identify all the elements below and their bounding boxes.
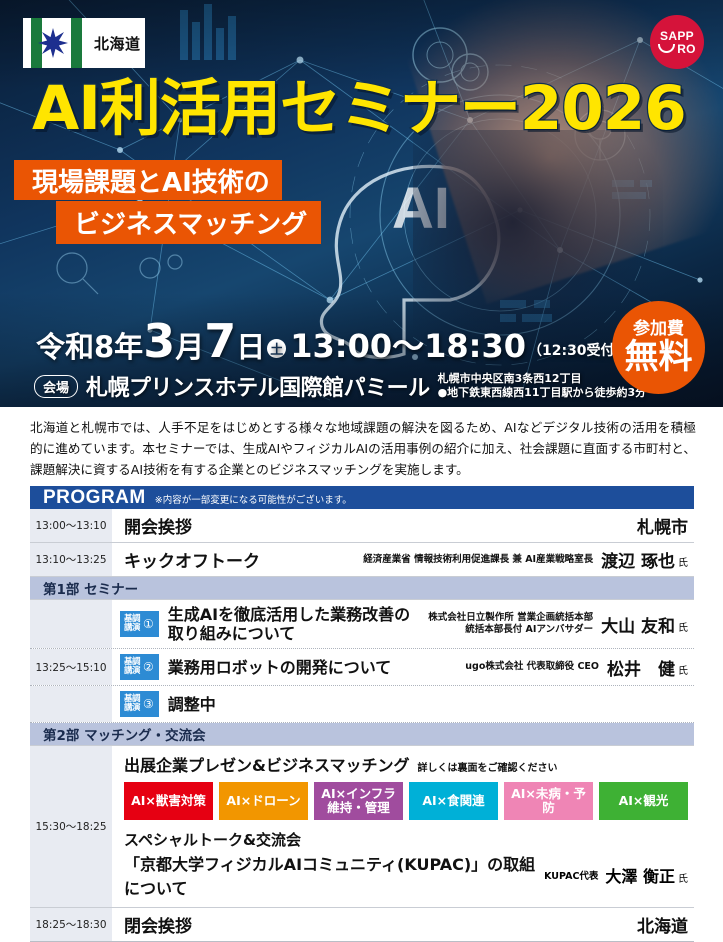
poster-root: AI — [0, 0, 723, 866]
matching-note: 詳しくは裏面をご確認ください — [417, 759, 557, 774]
hokkaido-logo: 北海道 — [23, 18, 145, 68]
venue-address-line1: 札幌市中央区南3条西12丁目 — [438, 372, 582, 385]
matching-title: 出展企業プレゼン&ビジネスマッチング — [124, 752, 409, 776]
event-date: 令和8年 3 月 7 日 土 13:00〜18:30 （12:30受付開始） — [36, 318, 657, 367]
category-tag-label: AI×ドローン — [226, 794, 300, 808]
program-header-title: PROGRAM — [43, 488, 146, 507]
program-table: PROGRAM ※内容が一部変更になる可能性がございます。 13:00～13:1… — [30, 486, 694, 942]
keynote-badge-number: ③ — [143, 697, 154, 711]
keynote-badge: 基調 講演 ③ — [120, 691, 159, 717]
keynote-badge-line2: 講演 — [124, 666, 140, 676]
date-day-unit: 日 — [236, 324, 265, 366]
keynote-badge: 基調 講演 ② — [120, 654, 159, 680]
row-body: 出展企業プレゼン&ビジネスマッチング 詳しくは裏面をご確認ください AI×獣害対… — [112, 746, 694, 907]
program-header-note: ※内容が一部変更になる可能性がございます。 — [155, 492, 352, 506]
special-talk-line1: スペシャルトーク&交流会 — [124, 829, 688, 850]
speaker-name: 渡辺 琢也 — [601, 547, 675, 572]
hokkaido-star-icon — [37, 27, 69, 59]
subtitle-line-1: 現場課題とAI技術の — [14, 160, 282, 200]
category-tag-label: AI×インフラ 維持・管理 — [321, 787, 395, 815]
subtitle-line-2: ビジネスマッチング — [56, 201, 321, 244]
category-tag[interactable]: AI×ドローン — [219, 782, 308, 820]
session-title: 業務用ロボットの開発について — [168, 658, 392, 677]
row-body: 基調 講演 ② 業務用ロボットの開発について ugo株式会社 代表取締役 CEO… — [112, 649, 694, 685]
speaker-name: 大澤 衡正 — [605, 863, 675, 887]
matching-heading: 出展企業プレゼン&ビジネスマッチング 詳しくは裏面をご確認ください — [124, 752, 688, 776]
row-body: 基調 講演 ① 生成AIを徹底活用した業務改善の 取り組みについて 株式会社日立… — [112, 600, 694, 648]
smile-icon — [658, 44, 675, 53]
page-title: AI利活用セミナー2026 — [32, 78, 686, 139]
hokkaido-flag-icon — [23, 18, 93, 68]
keynote-badge-number: ① — [143, 617, 154, 631]
row-body: 基調 講演 ③ 調整中 — [112, 686, 694, 722]
fee-badge: 参加費 無料 — [612, 301, 705, 394]
keynote-badge-text: 基調 講演 — [124, 658, 140, 676]
date-month-number: 3 — [143, 318, 175, 364]
table-row: 13:00～13:10 開会挨拶 札幌市 — [30, 509, 694, 543]
sapporo-logo: SAPP RO — [650, 15, 704, 69]
venue-address-line2: ●地下鉄東西線西11丁目駅から徒歩約3分 — [438, 386, 647, 399]
keynote-badge: 基調 講演 ① — [120, 611, 159, 637]
row-title: キックオフトーク — [124, 547, 260, 572]
sapporo-logo-line1: SAPP — [660, 30, 694, 42]
category-tag-label: AI×未病・予防 — [506, 787, 591, 815]
date-era-year: 令和8年 — [36, 324, 143, 366]
fee-badge-value: 無料 — [625, 340, 693, 374]
session-title: 調整中 — [168, 695, 216, 714]
special-talk-line2: 「京都大学フィジカルAIコミュニティ(KUPAC)」の取組について — [124, 851, 544, 899]
table-row: 基調 講演 ① 生成AIを徹底活用した業務改善の 取り組みについて 株式会社日立… — [30, 600, 694, 649]
category-tag[interactable]: AI×未病・予防 — [504, 782, 593, 820]
special-talk-block: スペシャルトーク&交流会 「京都大学フィジカルAIコミュニティ(KUPAC)」の… — [124, 829, 688, 899]
row-body: 閉会挨拶 北海道 — [112, 908, 694, 941]
speaker-organization: ugo株式会社 代表取締役 CEO — [465, 661, 599, 673]
table-row: 13:25～15:10 基調 講演 ② 業務用ロボットの開発について ugo株式… — [30, 649, 694, 686]
event-description: 北海道と札幌市では、人手不足をはじめとする様々な地域課題の解決を図るため、AIな… — [30, 418, 696, 481]
date-day-number: 7 — [204, 318, 236, 364]
category-tag[interactable]: AI×獣害対策 — [124, 782, 213, 820]
keynote-badge-line2: 講演 — [124, 703, 140, 713]
row-presenter: 札幌市 — [637, 513, 688, 538]
row-time: 13:10～13:25 — [30, 543, 112, 576]
row-speaker: 株式会社日立製作所 営業企画統括本部 統括本部長付 AIアンバサダー 大山 友和… — [428, 612, 688, 637]
speaker-organization: KUPAC代表 — [544, 868, 598, 882]
event-time-range: 13:00〜18:30 — [290, 321, 526, 367]
row-time — [30, 686, 112, 722]
venue-address: 札幌市中央区南3条西12丁目 ●地下鉄東西線西11丁目駅から徒歩約3分 — [438, 372, 647, 400]
row-body: 開会挨拶 札幌市 — [112, 509, 694, 542]
sapporo-logo-line2: RO — [677, 43, 696, 55]
venue-block: 会場 札幌プリンスホテル国際館パミール 札幌市中央区南3条西12丁目 ●地下鉄東… — [34, 370, 646, 402]
category-tag[interactable]: AI×食関連 — [409, 782, 498, 820]
speaker-suffix: 氏 — [678, 662, 688, 677]
keynote-badge-text: 基調 講演 — [124, 615, 140, 633]
row-presenter: 北海道 — [637, 912, 688, 937]
row-body: キックオフトーク 経済産業省 情報技術利用促進課長 兼 AI産業戦略室長 渡辺 … — [112, 543, 694, 576]
speaker-suffix: 氏 — [678, 870, 688, 885]
speaker-org-line1: 株式会社日立製作所 営業企画統括本部 — [428, 612, 593, 623]
speaker-suffix: 氏 — [678, 619, 688, 634]
row-speaker: KUPAC代表 大澤 衡正 氏 — [544, 863, 688, 887]
table-row: 18:25～18:30 閉会挨拶 北海道 — [30, 907, 694, 942]
speaker-org-line2: 統括本部長付 AIアンバサダー — [465, 624, 593, 635]
hero-banner: AI — [0, 0, 723, 407]
venue-badge: 会場 — [34, 375, 78, 398]
fee-badge-label: 参加費 — [633, 321, 684, 338]
speaker-name: 大山 友和 — [601, 612, 675, 637]
category-tag-label: AI×観光 — [619, 794, 669, 808]
keynote-badge-number: ② — [143, 660, 154, 674]
date-month-unit: 月 — [175, 324, 204, 366]
speaker-organization: 経済産業省 情報技術利用促進課長 兼 AI産業戦略室長 — [363, 554, 593, 566]
session-title: 生成AIを徹底活用した業務改善の 取り組みについて — [168, 605, 410, 643]
venue-name: 札幌プリンスホテル国際館パミール — [86, 370, 430, 402]
category-tag[interactable]: AI×インフラ 維持・管理 — [314, 782, 403, 820]
row-speaker: ugo株式会社 代表取締役 CEO 松井 健 氏 — [465, 655, 688, 680]
category-tag-label: AI×食関連 — [422, 794, 484, 808]
section-header-part2: 第2部 マッチング・交流会 — [30, 723, 694, 746]
keynote-badge-text: 基調 講演 — [124, 695, 140, 713]
hokkaido-logo-label: 北海道 — [93, 33, 141, 54]
category-tag-label: AI×獣害対策 — [131, 794, 206, 808]
row-title: 閉会挨拶 — [124, 912, 192, 937]
category-tag-list: AI×獣害対策 AI×ドローン AI×インフラ 維持・管理 AI×食関連 AI×… — [124, 782, 688, 820]
speaker-name: 松井 健 — [607, 655, 675, 680]
row-speaker: 経済産業省 情報技術利用促進課長 兼 AI産業戦略室長 渡辺 琢也 氏 — [363, 547, 688, 572]
keynote-badge-line2: 講演 — [124, 623, 140, 633]
table-row: 13:10～13:25 キックオフトーク 経済産業省 情報技術利用促進課長 兼 … — [30, 543, 694, 577]
row-time — [30, 600, 112, 648]
row-time: 15:30～18:25 — [30, 746, 112, 907]
speaker-organization: 株式会社日立製作所 営業企画統括本部 統括本部長付 AIアンバサダー — [428, 612, 593, 636]
table-row: 15:30～18:25 出展企業プレゼン&ビジネスマッチング 詳しくは裏面をご確… — [30, 746, 694, 907]
category-tag[interactable]: AI×観光 — [599, 782, 688, 820]
program-header: PROGRAM ※内容が一部変更になる可能性がございます。 — [30, 486, 694, 509]
section-header-part1: 第1部 セミナー — [30, 577, 694, 600]
row-title: 開会挨拶 — [124, 513, 192, 538]
row-time: 13:25～15:10 — [30, 649, 112, 685]
row-time: 18:25～18:30 — [30, 908, 112, 941]
date-weekday-badge: 土 — [267, 339, 286, 358]
speaker-suffix: 氏 — [678, 554, 688, 569]
table-row: 基調 講演 ③ 調整中 — [30, 686, 694, 723]
row-time: 13:00～13:10 — [30, 509, 112, 542]
